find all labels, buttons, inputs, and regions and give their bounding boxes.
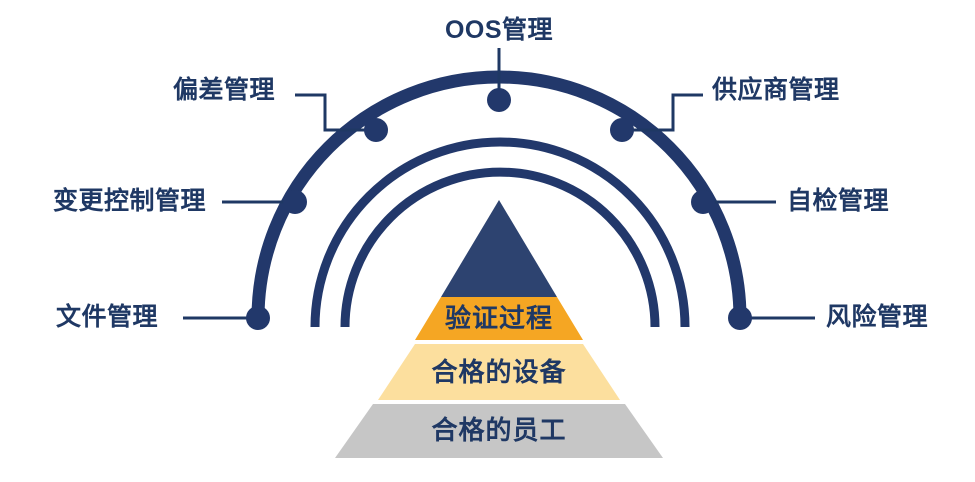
label-change-control: 变更控制管理 xyxy=(53,189,206,214)
pyramid-tier-2-label: 合格的设备 xyxy=(431,359,566,385)
node-risk xyxy=(728,306,752,330)
diagram-canvas: OOS管理 偏差管理 供应商管理 变更控制管理 自检管理 文件管理 风险管理 验… xyxy=(0,0,975,482)
label-oos: OOS管理 xyxy=(445,18,553,43)
label-deviation: 偏差管理 xyxy=(173,78,275,103)
node-deviation xyxy=(364,118,388,142)
pyramid-tier-1-label: 验证过程 xyxy=(445,305,553,331)
node-oos xyxy=(487,88,511,112)
label-risk: 风险管理 xyxy=(826,305,928,330)
node-document xyxy=(246,306,270,330)
label-supplier: 供应商管理 xyxy=(712,78,840,103)
node-self-inspect xyxy=(691,190,715,214)
pyramid-apex xyxy=(441,200,557,297)
pyramid-tier-3-label: 合格的员工 xyxy=(431,417,566,443)
label-self-inspect: 自检管理 xyxy=(787,189,889,214)
node-change-control xyxy=(283,190,307,214)
label-document: 文件管理 xyxy=(56,305,158,330)
arc-pyramid-graphic xyxy=(0,0,975,482)
node-supplier xyxy=(610,118,634,142)
